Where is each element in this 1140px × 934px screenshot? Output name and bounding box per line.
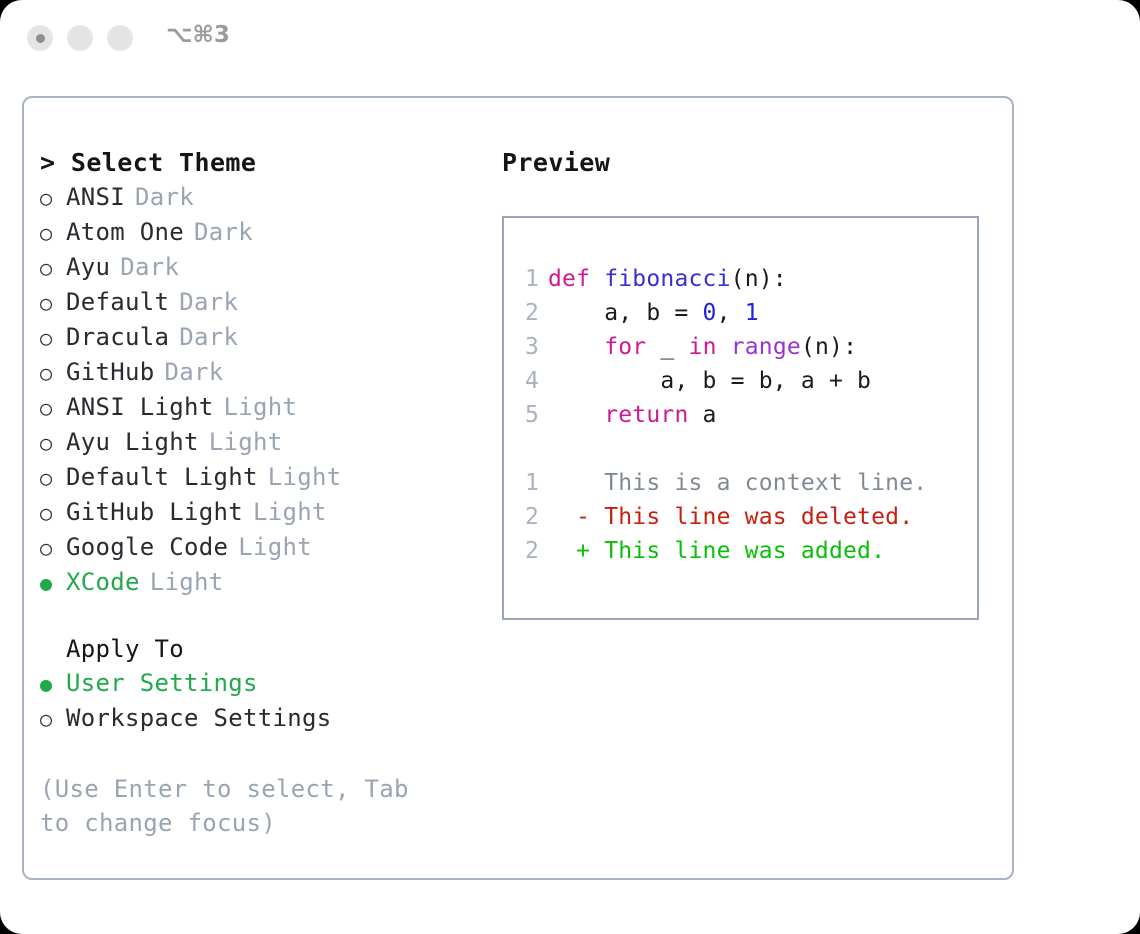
theme-option-kind: Light (209, 425, 283, 459)
diff-line-content: This line was added. (590, 534, 885, 568)
keyboard-hint-text: (Use Enter to select, Tab to change focu… (40, 772, 444, 840)
theme-option-label: Default (66, 285, 169, 319)
select-theme-heading: > Select Theme (40, 146, 500, 180)
theme-option-kind: Light (268, 460, 342, 494)
theme-option-kind: Dark (135, 180, 194, 214)
theme-option-label: Ayu Light (66, 425, 199, 459)
window-controls (27, 25, 133, 51)
preview-heading: Preview (502, 146, 1002, 180)
diff-marker-ctx (548, 466, 590, 500)
code-diff-spacer (504, 432, 977, 466)
theme-option-kind: Light (253, 495, 327, 529)
code-line-content: return a (548, 398, 717, 432)
theme-option-kind: Light (224, 390, 298, 424)
theme-option-label: Dracula (66, 320, 169, 354)
theme-option-github-light[interactable]: ○GitHub LightLight (40, 495, 500, 530)
code-line-number: 2 (504, 296, 548, 330)
code-sample: 1def fibonacci(n):2 a, b = 0, 13 for _ i… (504, 262, 977, 432)
theme-selector-pane: > Select Theme ○ANSIDark○Atom OneDark○Ay… (40, 146, 500, 840)
code-token-kw: def (548, 266, 604, 292)
window-button-3[interactable] (107, 25, 133, 51)
diff-line-number: 2 (504, 534, 548, 568)
code-line: 1def fibonacci(n): (504, 262, 977, 296)
radio-empty-icon: ○ (40, 496, 66, 530)
code-line: 5 return a (504, 398, 977, 432)
theme-option-label: ANSI Light (66, 390, 214, 424)
keyboard-shortcut-label: ⌥⌘3 (166, 22, 230, 48)
code-token-pun: (n): (801, 334, 857, 360)
theme-option-kind: Dark (179, 320, 238, 354)
code-line-number: 5 (504, 398, 548, 432)
diff-line-add: 2 + This line was added. (504, 534, 977, 568)
code-token-pun: , (717, 300, 745, 326)
apply-to-option-user-settings[interactable]: ●User Settings (40, 666, 500, 701)
theme-option-ayu-light[interactable]: ○Ayu LightLight (40, 425, 500, 460)
window-button-2[interactable] (67, 25, 93, 51)
theme-option-ansi[interactable]: ○ANSIDark (40, 180, 500, 215)
diff-line-del: 2 - This line was deleted. (504, 500, 977, 534)
title-bar: ⌥⌘3 (0, 0, 1140, 78)
apply-to-list[interactable]: ●User Settings○Workspace Settings (40, 666, 500, 736)
theme-option-kind: Dark (179, 285, 238, 319)
radio-empty-icon: ○ (40, 356, 66, 390)
code-token-kw: for (604, 334, 646, 360)
code-token-pun: _ (646, 334, 688, 360)
diff-line-number: 1 (504, 466, 548, 500)
radio-selected-icon: ● (40, 667, 66, 701)
code-token-kw: return (604, 402, 688, 428)
radio-empty-icon: ○ (40, 286, 66, 320)
theme-option-default-light[interactable]: ○Default LightLight (40, 460, 500, 495)
diff-marker-add: + (548, 534, 590, 568)
diff-line-content: This line was deleted. (590, 500, 913, 534)
code-token-pun: (n): (731, 266, 787, 292)
code-token-pun (548, 402, 604, 428)
theme-option-xcode[interactable]: ●XCodeLight (40, 565, 500, 600)
theme-list[interactable]: ○ANSIDark○Atom OneDark○AyuDark○DefaultDa… (40, 180, 500, 600)
theme-option-label: ANSI (66, 180, 125, 214)
diff-line-content: This is a context line. (590, 466, 927, 500)
code-line: 4 a, b = b, a + b (504, 364, 977, 398)
diff-line-number: 2 (504, 500, 548, 534)
theme-option-dracula[interactable]: ○DraculaDark (40, 320, 500, 355)
radio-empty-icon: ○ (40, 702, 66, 736)
theme-option-label: Default Light (66, 460, 258, 494)
theme-option-google-code[interactable]: ○Google CodeLight (40, 530, 500, 565)
preview-box: 1def fibonacci(n):2 a, b = 0, 13 for _ i… (502, 216, 979, 620)
theme-option-label: XCode (66, 565, 140, 599)
code-line-content: def fibonacci(n): (548, 262, 787, 296)
apply-to-section: Apply To ●User Settings○Workspace Settin… (40, 632, 500, 736)
apply-to-option-label: User Settings (66, 666, 258, 700)
diff-marker-del: - (548, 500, 590, 534)
radio-empty-icon: ○ (40, 181, 66, 215)
apply-to-option-workspace-settings[interactable]: ○Workspace Settings (40, 701, 500, 736)
code-token-pun: a, b = (548, 300, 703, 326)
radio-selected-icon: ● (40, 566, 66, 600)
app-window: ⌥⌘3 > Select Theme ○ANSIDark○Atom OneDar… (0, 0, 1140, 934)
radio-empty-icon: ○ (40, 531, 66, 565)
code-line-content: for _ in range(n): (548, 330, 857, 364)
theme-option-atom-one[interactable]: ○Atom OneDark (40, 215, 500, 250)
record-dot-button[interactable] (27, 25, 53, 51)
code-token-pun: a, b = b, a + b (548, 368, 871, 394)
code-line-number: 1 (504, 262, 548, 296)
radio-empty-icon: ○ (40, 426, 66, 460)
theme-option-kind: Light (238, 530, 312, 564)
theme-option-kind: Dark (165, 355, 224, 389)
code-token-pun: a (689, 402, 717, 428)
code-line-content: a, b = b, a + b (548, 364, 871, 398)
code-line-number: 3 (504, 330, 548, 364)
theme-option-label: Atom One (66, 215, 184, 249)
theme-option-kind: Light (150, 565, 224, 599)
theme-option-label: Ayu (66, 250, 110, 284)
radio-empty-icon: ○ (40, 391, 66, 425)
theme-option-label: GitHub Light (66, 495, 243, 529)
code-line: 3 for _ in range(n): (504, 330, 977, 364)
radio-empty-icon: ○ (40, 461, 66, 495)
code-line-number: 4 (504, 364, 548, 398)
radio-empty-icon: ○ (40, 216, 66, 250)
code-line: 2 a, b = 0, 1 (504, 296, 977, 330)
theme-option-kind: Dark (120, 250, 179, 284)
preview-pane: Preview 1def fibonacci(n):2 a, b = 0, 13… (502, 146, 1002, 620)
code-token-fn: fibonacci (604, 266, 730, 292)
code-token-num: 1 (745, 300, 759, 326)
theme-option-label: Google Code (66, 530, 228, 564)
apply-to-heading: Apply To (40, 632, 500, 666)
radio-empty-icon: ○ (40, 321, 66, 355)
code-token-pun (548, 334, 604, 360)
code-line-content: a, b = 0, 1 (548, 296, 759, 330)
diff-line-ctx: 1 This is a context line. (504, 466, 977, 500)
theme-option-ansi-light[interactable]: ○ANSI LightLight (40, 390, 500, 425)
theme-option-github[interactable]: ○GitHubDark (40, 355, 500, 390)
main-panel: > Select Theme ○ANSIDark○Atom OneDark○Ay… (22, 96, 1014, 880)
theme-option-kind: Dark (194, 215, 253, 249)
record-dot-icon (36, 34, 45, 43)
code-token-pun (717, 334, 731, 360)
radio-empty-icon: ○ (40, 251, 66, 285)
theme-option-ayu[interactable]: ○AyuDark (40, 250, 500, 285)
diff-sample: 1 This is a context line.2 - This line w… (504, 466, 977, 568)
apply-to-option-label: Workspace Settings (66, 701, 332, 735)
theme-option-default[interactable]: ○DefaultDark (40, 285, 500, 320)
theme-option-label: GitHub (66, 355, 155, 389)
code-token-bi: range (731, 334, 801, 360)
code-token-kw: in (689, 334, 717, 360)
code-token-num: 0 (703, 300, 717, 326)
